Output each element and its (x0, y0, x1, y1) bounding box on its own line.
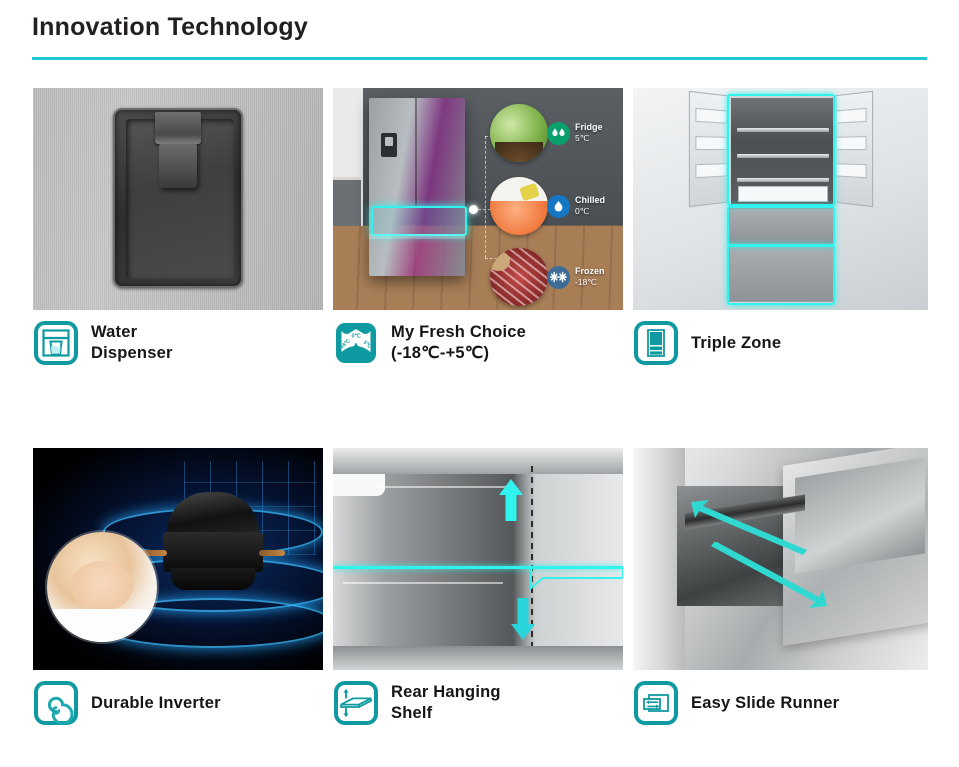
open-fridge-illustration (689, 96, 873, 300)
feature-caption-my-fresh-choice: 0℃ -18℃ 5℃ My Fresh Choice (-18℃-+5℃) (333, 320, 526, 366)
feature-image-my-fresh-choice: Fridge 5℃ Chilled 0℃ (333, 88, 623, 310)
water-dispenser-icon (33, 320, 79, 366)
feature-card-durable-inverter[interactable]: Durable Inverter (33, 448, 325, 748)
feature-image-durable-inverter (33, 448, 323, 670)
callout-anchor-dot (469, 205, 478, 214)
feature-label-durable-inverter: Durable Inverter (91, 693, 221, 714)
interior-groove-bottom (343, 582, 503, 584)
zone-highlight-fridge (727, 94, 835, 206)
temperature-dial-icon: 0℃ -18℃ 5℃ (333, 320, 379, 366)
feature-caption-easy-slide-runner: Easy Slide Runner (633, 680, 839, 726)
door-split-line (415, 98, 417, 206)
meat-photo (490, 248, 548, 306)
interior-lamp (333, 474, 385, 496)
callout-vertical-dash (485, 136, 486, 258)
feature-caption-rear-hanging-shelf: Rear Hanging Shelf (333, 680, 501, 726)
feature-card-triple-zone[interactable]: Triple Zone (633, 88, 928, 388)
drawer-handle-line (369, 234, 465, 239)
spiral-inverter-icon (33, 680, 79, 726)
two-droplets-icon (547, 122, 570, 145)
feature-image-water-dispenser (33, 88, 323, 310)
feature-caption-water-dispenser: Water Dispenser (33, 320, 173, 366)
refrigerator-body (369, 98, 465, 276)
feature-card-my-fresh-choice[interactable]: Fridge 5℃ Chilled 0℃ (333, 88, 625, 388)
feature-label-water-dispenser: Water Dispenser (91, 322, 173, 364)
dispenser-recess (113, 108, 243, 288)
fresh-choice-drawer-highlight (371, 206, 467, 236)
callout-label-chilled: Chilled 0℃ (575, 195, 605, 217)
callout-label-frozen: Frozen -18℃ (575, 266, 605, 288)
droplet-icon (547, 195, 570, 218)
compressor-body (163, 532, 263, 572)
adjustable-shelf-icon (333, 680, 379, 726)
feature-image-triple-zone (633, 88, 928, 310)
feature-label-rear-hanging-shelf: Rear Hanging Shelf (391, 682, 501, 724)
salmon-photo (490, 177, 548, 235)
feature-grid: Water Dispenser (0, 0, 959, 767)
dispenser-nozzle-head (155, 112, 201, 144)
feature-label-triple-zone: Triple Zone (691, 333, 781, 354)
slide-arrow-lower-icon (709, 542, 839, 612)
compressor (159, 492, 267, 596)
callout-frozen: Frozen -18℃ (490, 248, 605, 306)
svg-text:0℃: 0℃ (351, 333, 360, 340)
compressor-base (171, 568, 255, 590)
feature-caption-triple-zone: Triple Zone (633, 320, 781, 366)
triple-zone-icon (633, 320, 679, 366)
arrow-up-icon (498, 478, 524, 522)
feature-card-rear-hanging-shelf[interactable]: Rear Hanging Shelf (333, 448, 625, 748)
feature-image-easy-slide-runner (633, 448, 928, 670)
feature-image-rear-hanging-shelf (333, 448, 623, 670)
kitchen-counter (333, 177, 361, 229)
feature-label-my-fresh-choice: My Fresh Choice (-18℃-+5℃) (391, 322, 526, 364)
feature-label-easy-slide-runner: Easy Slide Runner (691, 693, 839, 714)
callout-chilled: Chilled 0℃ (490, 177, 605, 235)
dispenser-lever (159, 144, 197, 188)
sleeping-baby-photo (47, 532, 157, 642)
interior-groove-top (373, 486, 513, 488)
slide-runner-icon (633, 680, 679, 726)
zone-highlight-middle (727, 206, 835, 246)
fridge-dispenser-panel (381, 133, 397, 157)
arrow-down-icon (510, 593, 536, 641)
zone-highlight-bottom (727, 245, 835, 305)
interior-floor (333, 646, 623, 670)
feature-caption-durable-inverter: Durable Inverter (33, 680, 221, 726)
shelf-bracket-outline (529, 566, 623, 598)
two-snowflakes-icon (547, 266, 570, 289)
feature-card-easy-slide-runner[interactable]: Easy Slide Runner (633, 448, 928, 748)
innovation-technology-page: Innovation Technology (0, 0, 959, 767)
compressor-pipe-right (259, 550, 285, 556)
interior-ceiling (333, 448, 623, 474)
vegetables-photo (490, 104, 548, 162)
callout-label-fridge: Fridge 5℃ (575, 122, 603, 144)
feature-card-water-dispenser[interactable]: Water Dispenser (33, 88, 325, 388)
callout-fridge: Fridge 5℃ (490, 104, 603, 162)
